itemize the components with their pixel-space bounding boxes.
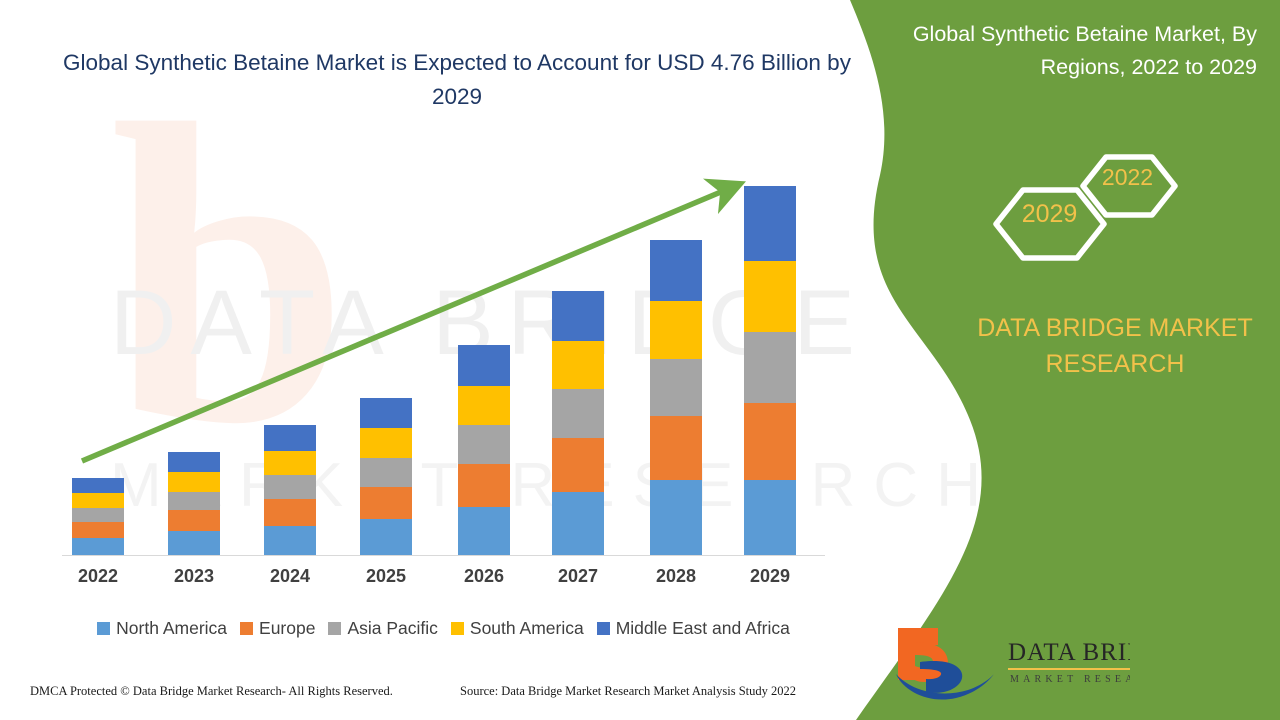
legend-label-middle-east-and-africa: Middle East and Africa <box>616 618 790 639</box>
x-axis-labels: 20222023202420252026202720282029 <box>62 566 825 596</box>
panel-title: Global Synthetic Betaine Market, By Regi… <box>845 18 1265 84</box>
legend-swatch-south-america <box>451 622 464 635</box>
x-axis-label-2024: 2024 <box>245 566 335 587</box>
data-bridge-logo: DATA BRIDGE MARKET RESEARCH <box>890 622 1130 704</box>
brand-line-1: DATA BRIDGE MARKET <box>977 314 1253 342</box>
logo-tagline: MARKET RESEARCH <box>1010 674 1130 685</box>
legend-label-north-america: North America <box>116 618 227 639</box>
x-axis-label-2028: 2028 <box>631 566 721 587</box>
x-axis-label-2027: 2027 <box>533 566 623 587</box>
chart-panel: Global Synthetic Betaine Market is Expec… <box>0 0 860 720</box>
x-axis-label-2025: 2025 <box>341 566 431 587</box>
hexagon-2029-label: 2029 <box>997 200 1102 229</box>
legend-swatch-middle-east-and-africa <box>597 622 610 635</box>
legend-swatch-europe <box>240 622 253 635</box>
legend-label-south-america: South America <box>470 618 584 639</box>
legend-item-asia-pacific[interactable]: Asia Pacific <box>328 618 437 639</box>
hexagon-2022-label: 2022 <box>1075 164 1180 191</box>
growth-trend-arrow <box>0 0 860 720</box>
legend-swatch-asia-pacific <box>328 622 341 635</box>
chart-legend: North AmericaEuropeAsia PacificSouth Ame… <box>62 615 825 641</box>
legend-swatch-north-america <box>97 622 110 635</box>
x-axis-label-2022: 2022 <box>53 566 143 587</box>
logo-wordmark: DATA BRIDGE <box>1008 639 1130 666</box>
logo-b-mark-orange <box>898 628 948 682</box>
x-axis-label-2026: 2026 <box>439 566 529 587</box>
year-hexagons: 2029 2022 <box>975 138 1190 293</box>
x-axis-label-2023: 2023 <box>149 566 239 587</box>
legend-item-north-america[interactable]: North America <box>97 618 227 639</box>
logo-divider <box>1008 668 1130 670</box>
legend-item-europe[interactable]: Europe <box>240 618 315 639</box>
x-axis-label-2029: 2029 <box>725 566 815 587</box>
legend-item-south-america[interactable]: South America <box>451 618 584 639</box>
infographic-canvas: b DATA BRIDGE MARKET RESEARCH Global Syn… <box>0 0 1280 720</box>
brand-line-2: RESEARCH <box>1046 350 1185 378</box>
footer-source: Source: Data Bridge Market Research Mark… <box>460 684 796 699</box>
legend-label-asia-pacific: Asia Pacific <box>347 618 437 639</box>
footer-copyright: DMCA Protected © Data Bridge Market Rese… <box>30 684 393 699</box>
logo-graphic: DATA BRIDGE MARKET RESEARCH <box>890 622 1130 704</box>
legend-item-middle-east-and-africa[interactable]: Middle East and Africa <box>597 618 790 639</box>
legend-label-europe: Europe <box>259 618 315 639</box>
brand-name: DATA BRIDGE MARKET RESEARCH <box>960 310 1270 382</box>
